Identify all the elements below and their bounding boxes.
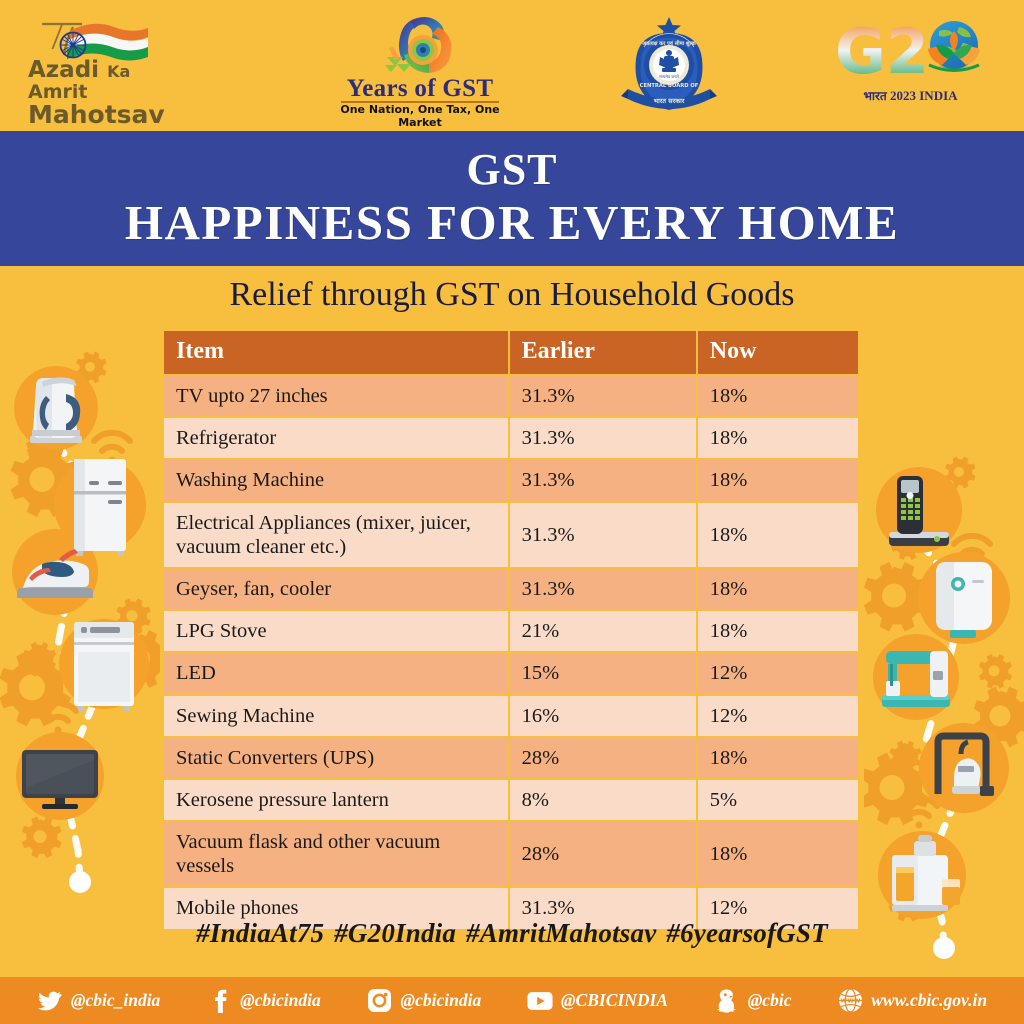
azadi-line1-a: Azadi — [28, 57, 99, 83]
cell-item: Vacuum flask and other vacuum vessels — [164, 822, 508, 886]
six-years-of-gst-logo: Years of GST One Nation, One Tax, One Ma… — [325, 13, 515, 117]
svg-text:भारत सरकार: भारत सरकार — [654, 97, 685, 105]
cell-now: 5% — [698, 780, 858, 820]
table-body: TV upto 27 inches31.3%18%Refrigerator31.… — [164, 376, 858, 929]
hashtag[interactable]: #IndiaAt75 — [196, 918, 324, 948]
gst-rates-table-wrapper: Item Earlier Now TV upto 27 inches31.3%1… — [162, 329, 860, 931]
footer-handle-twitter: @cbic_india — [71, 990, 160, 1011]
title-line-1: GST — [466, 148, 557, 192]
hashtag[interactable]: #G20India — [334, 918, 456, 948]
cell-earlier: 31.3% — [510, 503, 696, 567]
svg-text:www: www — [840, 996, 860, 1005]
cell-item: Static Converters (UPS) — [164, 738, 508, 778]
cbic-emblem-icon: सत्यमेव जयते अप्रत्यक्ष कर एवं सीमा शुल्… — [614, 11, 724, 119]
footer-item-instagram[interactable]: @cbicindia — [367, 988, 482, 1014]
column-header-item: Item — [164, 331, 508, 374]
gst-years-title: Years of GST — [325, 75, 515, 103]
cell-item: Geyser, fan, cooler — [164, 569, 508, 609]
cell-earlier: 16% — [510, 696, 696, 736]
cell-item: LED — [164, 653, 508, 693]
table-row: Geyser, fan, cooler31.3%18% — [164, 569, 858, 609]
azadi-line2-b: Mahotsav — [28, 100, 165, 129]
cell-earlier: 21% — [510, 611, 696, 651]
gst-rates-table: Item Earlier Now TV upto 27 inches31.3%1… — [162, 329, 860, 931]
footer-handle-instagram: @cbicindia — [401, 990, 482, 1011]
hashtag-row: #IndiaAt75#G20India#AmritMahotsav#6years… — [0, 918, 1024, 949]
social-footer: @cbic_india @cbicindia @cbicindia — [0, 977, 1024, 1024]
koo-icon — [714, 988, 740, 1014]
cell-item: Kerosene pressure lantern — [164, 780, 508, 820]
cell-item: Sewing Machine — [164, 696, 508, 736]
cell-now: 18% — [698, 376, 858, 416]
clothes-iron-icon — [17, 549, 93, 598]
gst-six-swirl-icon — [325, 13, 515, 77]
cell-item: Refrigerator — [164, 418, 508, 458]
cell-earlier: 8% — [510, 780, 696, 820]
cell-now: 12% — [698, 696, 858, 736]
footer-handle-koo: @cbic — [748, 990, 792, 1011]
table-row: Vacuum flask and other vacuum vessels28%… — [164, 822, 858, 886]
vacuum-cleaner-icon — [938, 736, 994, 796]
table-row: TV upto 27 inches31.3%18% — [164, 376, 858, 416]
cell-now: 18% — [698, 822, 858, 886]
washing-machine-icon — [74, 622, 134, 711]
youtube-icon — [527, 988, 553, 1014]
refrigerator-icon — [74, 459, 126, 556]
gear-icon — [864, 457, 1024, 922]
gear-icon — [0, 352, 160, 859]
table-row: LPG Stove21%18% — [164, 611, 858, 651]
cell-item: LPG Stove — [164, 611, 508, 651]
hashtag[interactable]: #6yearsofGST — [666, 918, 827, 948]
g20-subtitle: भारत 2023 INDIA — [823, 87, 998, 104]
cordless-phone-icon — [889, 476, 949, 546]
wifi-icon — [901, 536, 990, 829]
cell-now: 18% — [698, 569, 858, 609]
column-header-earlier: Earlier — [510, 331, 696, 374]
cell-now: 12% — [698, 653, 858, 693]
table-row: Static Converters (UPS)28%18% — [164, 738, 858, 778]
page-subtitle: Relief through GST on Household Goods — [0, 276, 1024, 314]
twitter-icon — [37, 988, 63, 1014]
table-row: Sewing Machine16%12% — [164, 696, 858, 736]
cell-now: 18% — [698, 460, 858, 500]
infographic-page: 7 — [0, 0, 1024, 1024]
water-heater-icon — [936, 562, 992, 638]
svg-text:अप्रत्यक्ष कर एवं सीमा शुल्क: अप्रत्यक्ष कर एवं सीमा शुल्क — [642, 40, 696, 47]
juicer-icon — [892, 835, 960, 911]
cell-earlier: 28% — [510, 822, 696, 886]
cell-earlier: 31.3% — [510, 569, 696, 609]
logo-bar: 7 — [0, 0, 1024, 130]
column-header-now: Now — [698, 331, 858, 374]
azadi-line1-b: Ka — [107, 62, 130, 81]
facebook-icon — [206, 988, 232, 1014]
g20-wordmark: G2 — [835, 15, 929, 87]
g20-subtitle-en: 2023 INDIA — [890, 88, 958, 103]
footer-item-twitter[interactable]: @cbic_india — [37, 988, 160, 1014]
sewing-machine-icon — [882, 651, 950, 707]
g20-india-2023-logo: G2 — [823, 15, 998, 115]
cell-item: Electrical Appliances (mixer, juicer, va… — [164, 503, 508, 567]
svg-text:सत्यमेव जयते: सत्यमेव जयते — [659, 74, 679, 79]
gst-tagline: One Nation, One Tax, One Market — [325, 103, 515, 129]
table-row: Washing Machine31.3%18% — [164, 460, 858, 500]
footer-item-facebook[interactable]: @cbicindia — [206, 988, 321, 1014]
cell-earlier: 31.3% — [510, 376, 696, 416]
azadi-wordmark: Azadi Ka Amrit Mahotsav — [28, 59, 228, 127]
svg-text:CENTRAL BOARD OF: CENTRAL BOARD OF — [640, 83, 699, 89]
title-line-2: HAPPINESS FOR EVERY HOME — [125, 197, 899, 248]
table-row: Electrical Appliances (mixer, juicer, va… — [164, 503, 858, 567]
cell-item: TV upto 27 inches — [164, 376, 508, 416]
g20-logo-icon: G2 — [823, 15, 998, 87]
cbic-emblem-logo: सत्यमेव जयते अप्रत्यक्ष कर एवं सीमा शुल्… — [614, 11, 724, 119]
electric-kettle-icon — [30, 377, 82, 443]
table-row: Refrigerator31.3%18% — [164, 418, 858, 458]
hashtag[interactable]: #AmritMahotsav — [466, 918, 656, 948]
footer-item-website[interactable]: www www.cbic.gov.in — [837, 988, 987, 1014]
table-row: Kerosene pressure lantern8%5% — [164, 780, 858, 820]
table-header-row: Item Earlier Now — [164, 331, 858, 374]
cell-earlier: 31.3% — [510, 460, 696, 500]
cell-now: 18% — [698, 503, 858, 567]
footer-handle-website: www.cbic.gov.in — [871, 990, 987, 1011]
instagram-icon — [367, 988, 393, 1014]
azadi-ka-amrit-mahotsav-logo: 7 — [26, 15, 226, 115]
cell-now: 18% — [698, 418, 858, 458]
cell-earlier: 15% — [510, 653, 696, 693]
cell-now: 18% — [698, 611, 858, 651]
cell-earlier: 31.3% — [510, 418, 696, 458]
cell-now: 18% — [698, 738, 858, 778]
footer-item-youtube[interactable]: @CBICINDIA — [527, 988, 668, 1014]
website-icon: www — [837, 988, 863, 1014]
g20-subtitle-dev: भारत — [863, 89, 886, 103]
title-band: GST HAPPINESS FOR EVERY HOME — [0, 131, 1024, 266]
footer-handle-facebook: @cbicindia — [240, 990, 321, 1011]
cell-item: Washing Machine — [164, 460, 508, 500]
footer-handle-youtube: @CBICINDIA — [561, 990, 668, 1011]
footer-item-koo[interactable]: @cbic — [714, 988, 792, 1014]
wifi-icon — [40, 433, 130, 734]
cell-earlier: 28% — [510, 738, 696, 778]
table-row: LED15%12% — [164, 653, 858, 693]
television-icon — [22, 750, 98, 809]
